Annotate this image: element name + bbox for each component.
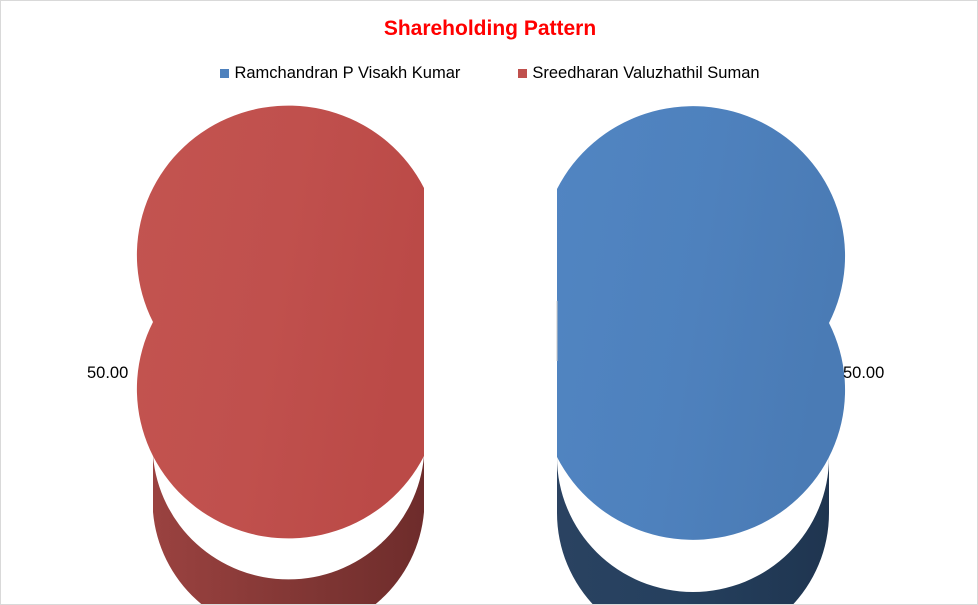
- pie-slice-ramchandran-p-visakh-kumar[interactable]: [557, 106, 845, 605]
- pie-slice-sreedharan-valuzhathil-suman[interactable]: [137, 106, 424, 605]
- data-label-ramchandran-p-visakh-kumar: 50.00: [843, 364, 884, 383]
- pie-slice-red-top-face: [137, 106, 424, 539]
- chart-canvas: Shareholding Pattern Ramchandran P Visak…: [0, 0, 978, 605]
- data-label-sreedharan-valuzhathil-suman: 50.00: [87, 364, 128, 383]
- pie-slice-blue-top-face: [557, 106, 845, 540]
- pie-chart-graphic: [1, 1, 978, 605]
